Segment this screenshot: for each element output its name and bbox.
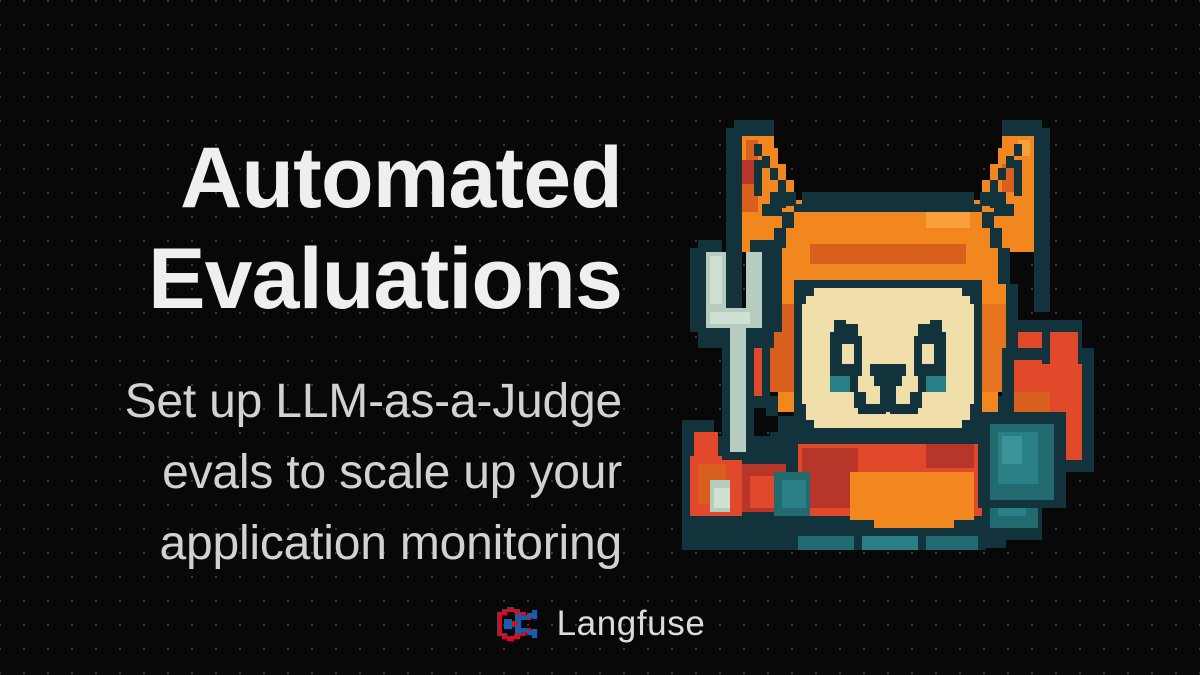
pixel-fox-robot-mascot <box>682 112 1094 550</box>
mascot-left-eye <box>830 320 862 392</box>
mascot-right-eye <box>914 320 946 392</box>
mascot-face <box>794 280 982 432</box>
langfuse-logo-icon <box>495 604 539 644</box>
hero-text-block: Automated Evaluations Set up LLM-as-a-Ju… <box>0 128 630 579</box>
brand-lockup: Langfuse <box>0 604 1200 644</box>
page-title: Automated Evaluations <box>0 128 622 330</box>
page-subtitle: Set up LLM-as-a-Judge evals to scale up … <box>0 366 622 579</box>
mascot-illustration <box>682 112 1094 550</box>
brand-wordmark: Langfuse <box>557 604 706 644</box>
banner-canvas: Automated Evaluations Set up LLM-as-a-Ju… <box>0 0 1200 675</box>
mascot-tail <box>978 412 1066 508</box>
